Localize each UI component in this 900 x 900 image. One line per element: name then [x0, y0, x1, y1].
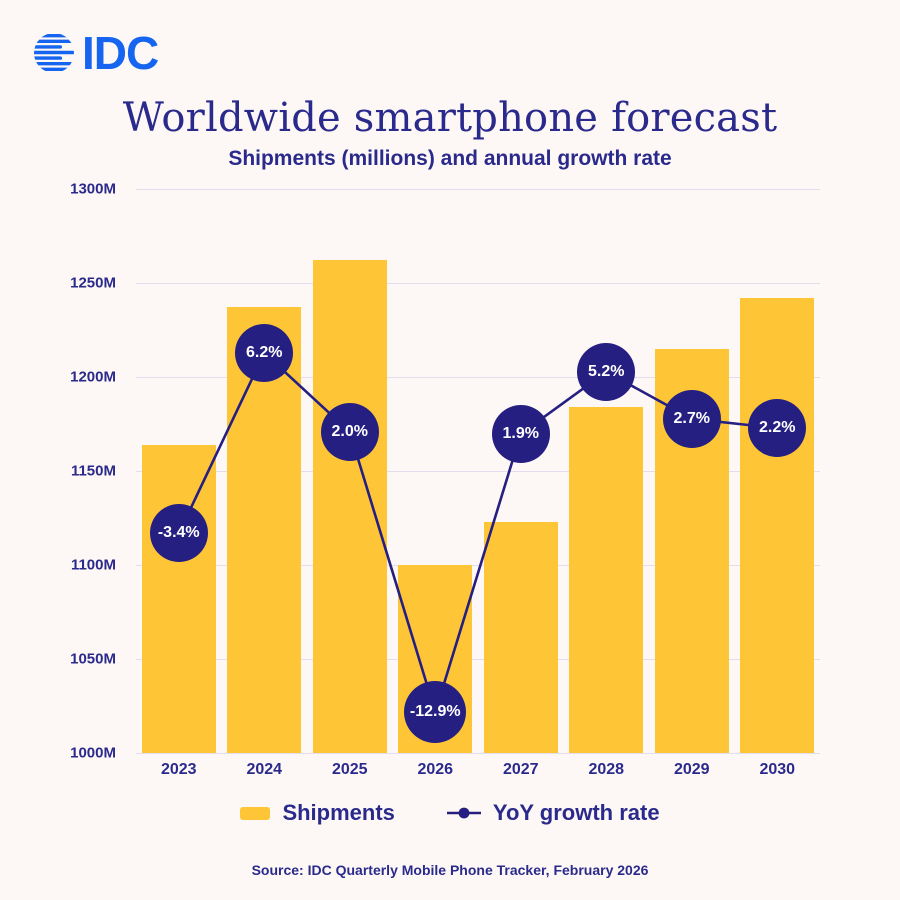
x-axis-tick-2027: 2027	[481, 761, 561, 779]
x-axis-tick-2024: 2024	[224, 761, 304, 779]
growth-marker-2027[interactable]: 1.9%	[492, 405, 550, 463]
bar-2023[interactable]	[142, 445, 216, 753]
gridline	[136, 283, 820, 284]
growth-marker-2023[interactable]: -3.4%	[150, 504, 208, 562]
growth-marker-2028[interactable]: 5.2%	[577, 343, 635, 401]
y-axis-tick-label: 1300M	[26, 181, 116, 198]
bar-swatch-icon	[240, 807, 270, 820]
y-axis-tick-label: 1200M	[26, 369, 116, 386]
growth-marker-2026[interactable]: -12.9%	[404, 681, 466, 743]
legend-label-shipments: Shipments	[282, 800, 394, 826]
growth-marker-2030[interactable]: 2.2%	[748, 399, 806, 457]
y-axis-tick-label: 1100M	[26, 557, 116, 574]
y-axis-tick-label: 1000M	[26, 745, 116, 762]
y-axis-tick-label: 1050M	[26, 651, 116, 668]
bar-2030[interactable]	[740, 298, 814, 753]
legend-label-growth: YoY growth rate	[493, 800, 660, 826]
bar-2028[interactable]	[569, 407, 643, 753]
line-dot-swatch-icon	[447, 806, 481, 820]
legend-item-shipments[interactable]: Shipments	[240, 800, 394, 826]
x-axis-tick-2029: 2029	[652, 761, 732, 779]
x-axis-tick-2028: 2028	[566, 761, 646, 779]
x-axis-tick-2025: 2025	[310, 761, 390, 779]
bar-2027[interactable]	[484, 522, 558, 753]
legend-item-growth[interactable]: YoY growth rate	[447, 800, 660, 826]
source-note: Source: IDC Quarterly Mobile Phone Track…	[0, 862, 900, 878]
growth-marker-2029[interactable]: 2.7%	[663, 390, 721, 448]
gridline	[136, 753, 820, 754]
growth-marker-2025[interactable]: 2.0%	[321, 403, 379, 461]
combo-chart: 1000M1050M1100M1150M1200M1250M1300M -3.4…	[0, 0, 900, 900]
legend: Shipments YoY growth rate	[0, 800, 900, 826]
x-axis-tick-2030: 2030	[737, 761, 817, 779]
bar-2025[interactable]	[313, 260, 387, 753]
gridline	[136, 189, 820, 190]
y-axis-tick-label: 1250M	[26, 275, 116, 292]
growth-marker-2024[interactable]: 6.2%	[235, 324, 293, 382]
y-axis-tick-label: 1150M	[26, 463, 116, 480]
x-axis-tick-2023: 2023	[139, 761, 219, 779]
x-axis-tick-2026: 2026	[395, 761, 475, 779]
